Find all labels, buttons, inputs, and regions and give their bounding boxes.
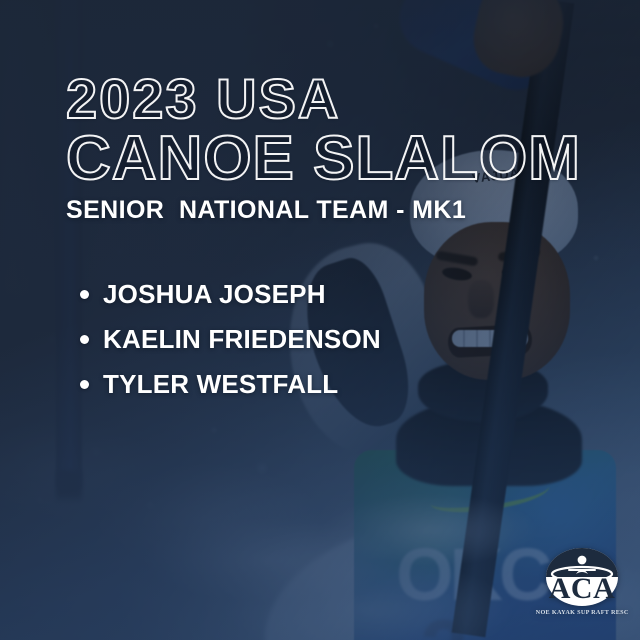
title-line-1: 2023 USA — [66, 70, 581, 128]
poster-content: 2023 USA CANOE SLALOM SENIOR NATIONAL TE… — [0, 0, 640, 640]
athlete-name: KAELIN FRIEDENSON — [103, 324, 381, 355]
list-item: TYLER WESTFALL — [80, 362, 381, 407]
title-line-2: CANOE SLALOM — [66, 130, 581, 188]
athlete-name: JOSHUA JOSEPH — [103, 279, 326, 310]
athlete-name-list: JOSHUA JOSEPH KAELIN FRIEDENSON TYLER WE… — [80, 272, 381, 407]
aca-logo-icon: ACA CANOE KAYAK SUP RAFT RESCUE — [536, 544, 628, 622]
bullet-icon — [80, 380, 89, 389]
poster-canvas: OKC 2 VAJDA 2023 USA CANOE SLALOM SENIOR… — [0, 0, 640, 640]
aca-tagline-text: CANOE KAYAK SUP RAFT RESCUE — [536, 609, 628, 616]
bullet-icon — [80, 290, 89, 299]
aca-acronym-text: ACA — [549, 572, 616, 605]
list-item: KAELIN FRIEDENSON — [80, 317, 381, 362]
athlete-name: TYLER WESTFALL — [103, 369, 338, 400]
bullet-icon — [80, 335, 89, 344]
list-item: JOSHUA JOSEPH — [80, 272, 381, 317]
poster-subtitle: SENIOR NATIONAL TEAM - MK1 — [66, 196, 466, 225]
poster-title: 2023 USA CANOE SLALOM — [66, 70, 581, 188]
